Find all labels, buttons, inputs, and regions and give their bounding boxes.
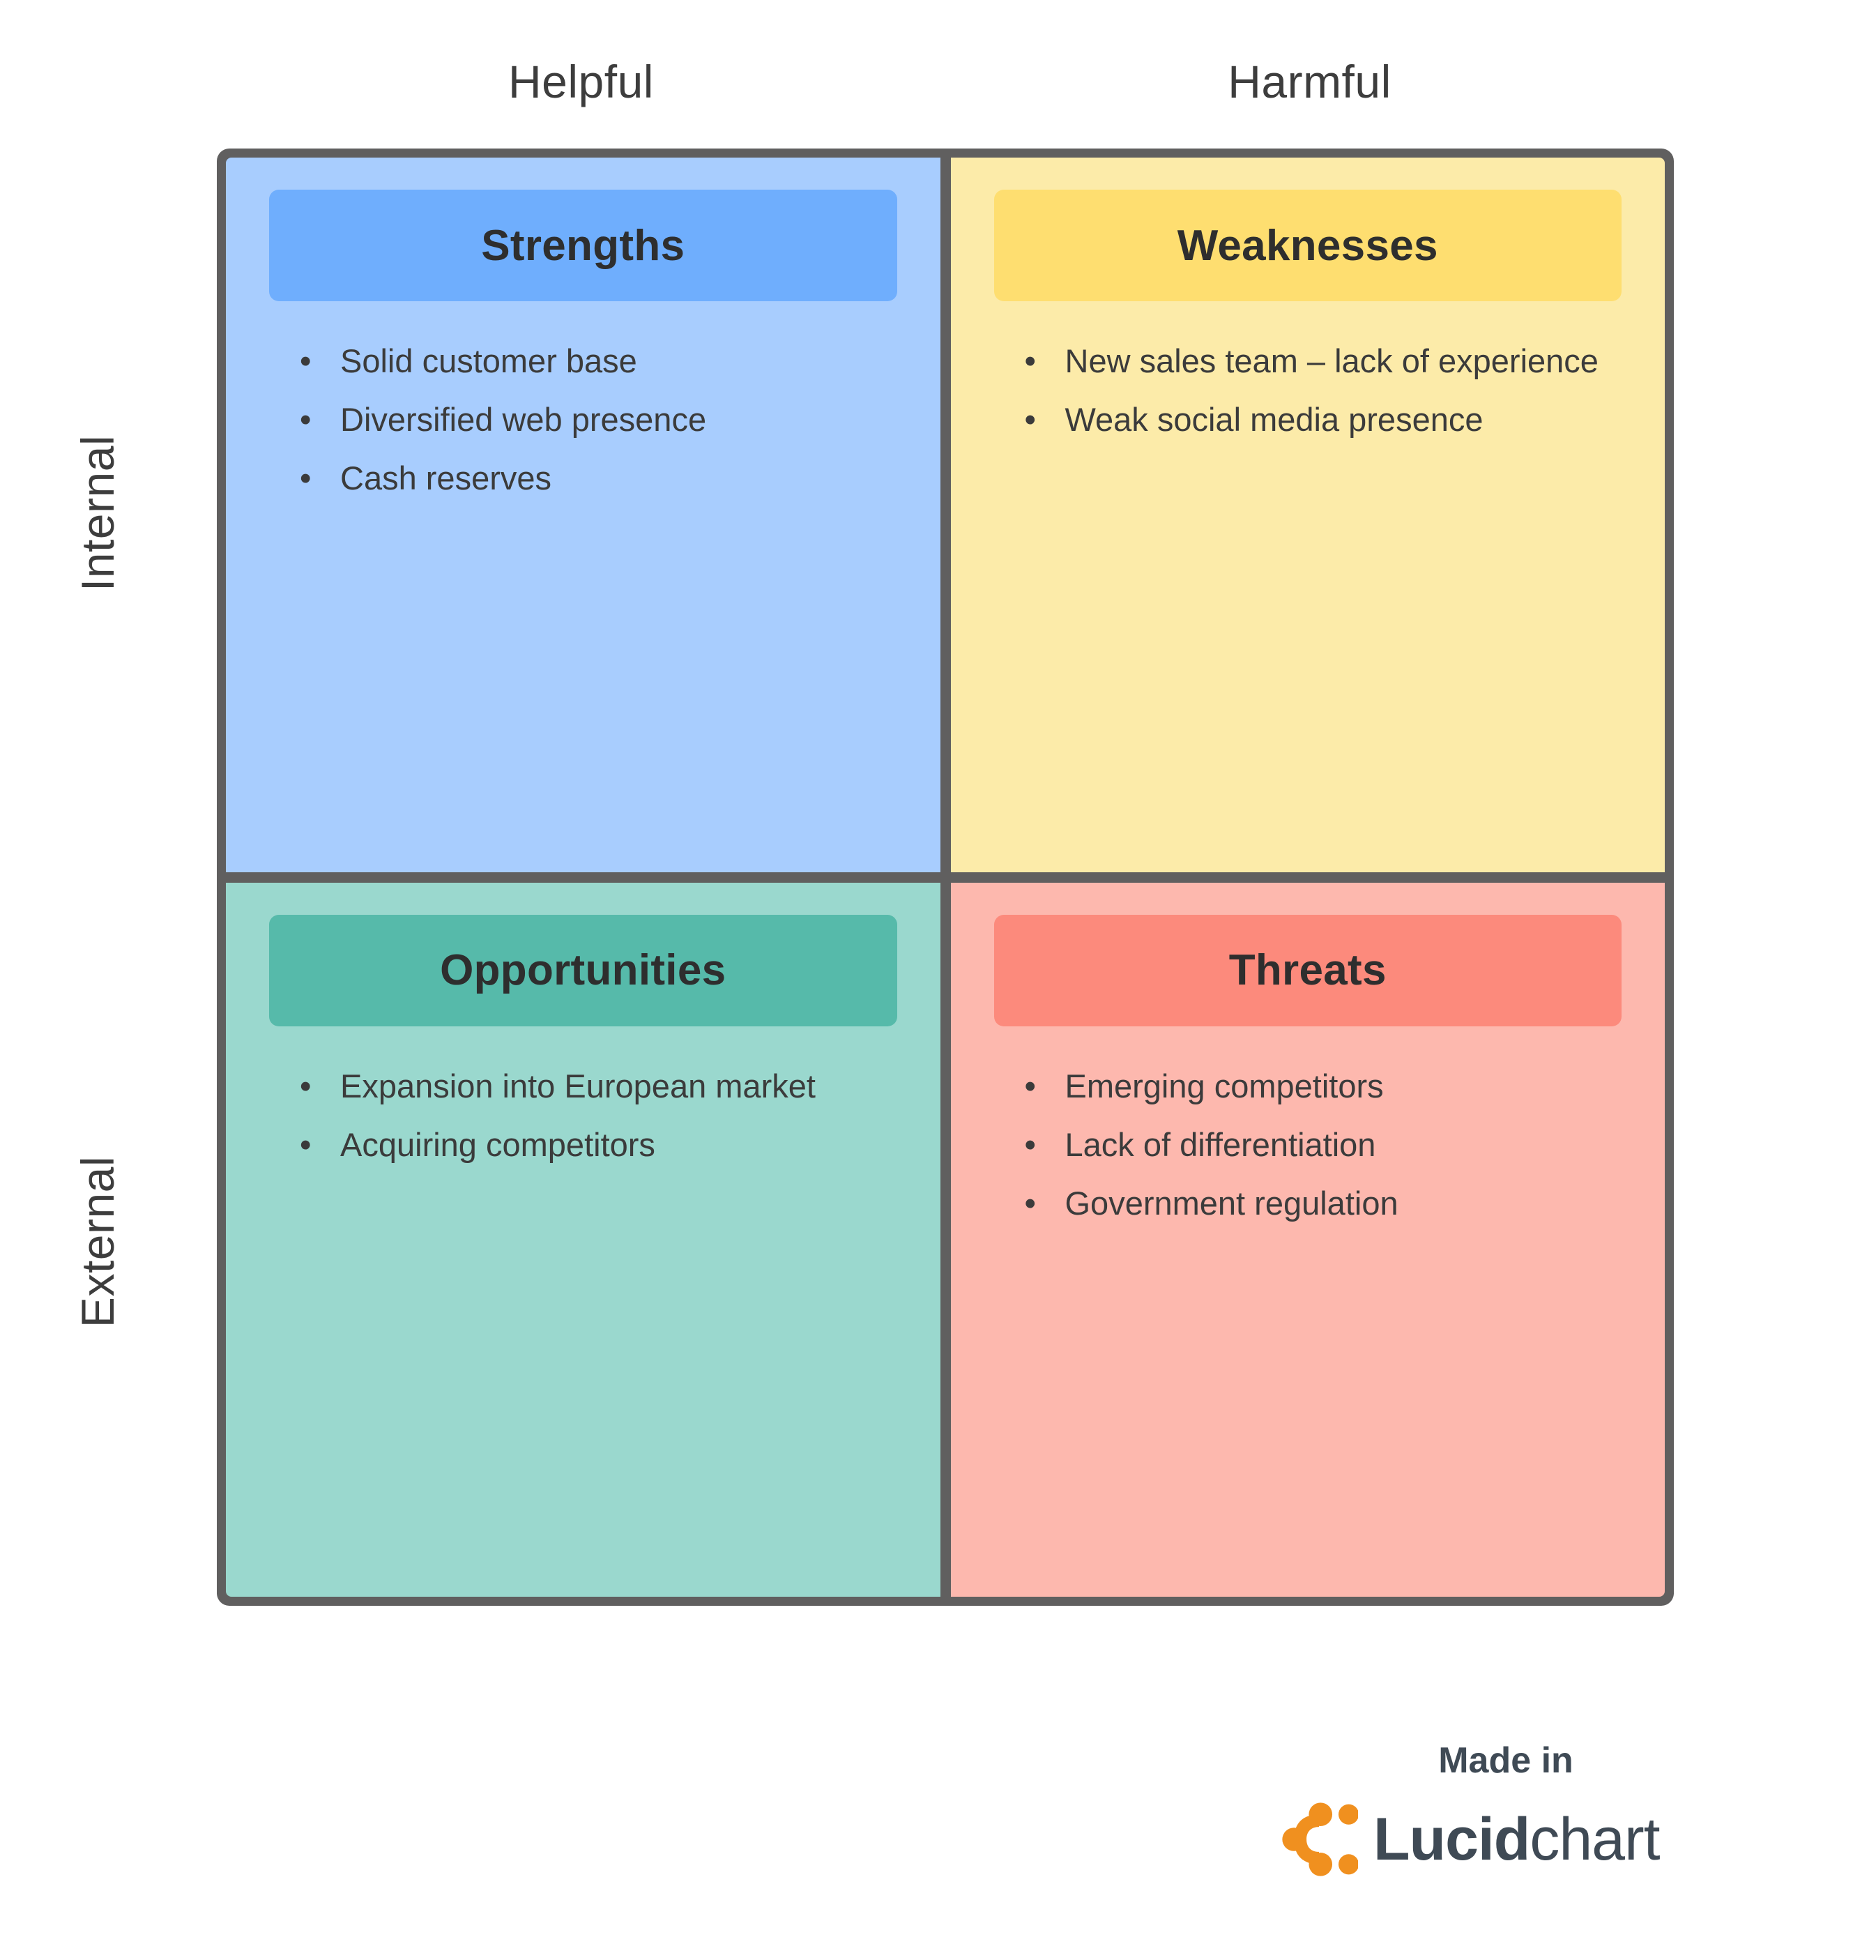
- bullet-icon: •: [1025, 1057, 1036, 1116]
- quadrant-list-opportunities: •Expansion into European market•Acquirin…: [269, 1026, 897, 1174]
- list-item-label: New sales team – lack of experience: [1065, 342, 1599, 379]
- list-item: •Lack of differentiation: [1022, 1116, 1622, 1174]
- bullet-icon: •: [1025, 1174, 1036, 1233]
- row-label-external-text: External: [71, 1155, 124, 1327]
- list-item: •New sales team – lack of experience: [1022, 332, 1622, 390]
- list-item-label: Cash reserves: [340, 459, 551, 496]
- bullet-icon: •: [300, 390, 311, 449]
- quadrant-title-weaknesses: Weaknesses: [994, 190, 1622, 301]
- list-item: •Diversified web presence: [297, 390, 897, 449]
- list-item: •Government regulation: [1022, 1174, 1622, 1233]
- bullet-icon: •: [1025, 332, 1036, 390]
- list-item: •Acquiring competitors: [297, 1116, 897, 1174]
- quadrant-list-strengths: •Solid customer base•Diversified web pre…: [269, 301, 897, 508]
- list-item: •Emerging competitors: [1022, 1057, 1622, 1116]
- wordmark-chart: chart: [1530, 1806, 1659, 1873]
- list-item-label: Expansion into European market: [340, 1068, 816, 1104]
- bullet-icon: •: [1025, 1116, 1036, 1174]
- column-headers: Helpful Harmful: [217, 43, 1674, 120]
- quadrant-title-threats: Threats: [994, 915, 1622, 1026]
- list-item-label: Government regulation: [1065, 1185, 1398, 1222]
- footer-attribution: Made in Lucidchart: [1262, 1736, 1792, 1924]
- wordmark-lucid: Lucid: [1373, 1806, 1530, 1873]
- quadrant-threats[interactable]: Threats •Emerging competitors•Lack of di…: [951, 883, 1665, 1597]
- row-label-internal: Internal: [0, 149, 195, 877]
- lucidchart-mark-icon: [1280, 1800, 1358, 1878]
- list-item: •Expansion into European market: [297, 1057, 897, 1116]
- quadrant-weaknesses[interactable]: Weaknesses •New sales team – lack of exp…: [951, 158, 1665, 872]
- quadrant-list-threats: •Emerging competitors•Lack of differenti…: [994, 1026, 1622, 1233]
- quadrant-strengths[interactable]: Strengths •Solid customer base•Diversifi…: [226, 158, 940, 872]
- bullet-icon: •: [300, 1116, 311, 1174]
- quadrant-opportunities[interactable]: Opportunities •Expansion into European m…: [226, 883, 940, 1597]
- list-item-label: Weak social media presence: [1065, 401, 1484, 438]
- list-item-label: Acquiring competitors: [340, 1126, 655, 1163]
- bullet-icon: •: [300, 1057, 311, 1116]
- swot-matrix: Strengths •Solid customer base•Diversifi…: [217, 149, 1674, 1606]
- list-item: •Weak social media presence: [1022, 390, 1622, 449]
- quadrant-title-strengths: Strengths: [269, 190, 897, 301]
- row-label-internal-text: Internal: [71, 434, 124, 591]
- list-item-label: Diversified web presence: [340, 401, 706, 438]
- lucidchart-wordmark: Lucidchart: [1373, 1805, 1660, 1874]
- column-header-helpful: Helpful: [217, 43, 945, 120]
- bullet-icon: •: [300, 332, 311, 390]
- bullet-icon: •: [300, 449, 311, 508]
- made-in-label: Made in: [1290, 1736, 1722, 1785]
- list-item-label: Solid customer base: [340, 342, 637, 379]
- row-label-external: External: [0, 877, 195, 1606]
- list-item-label: Emerging competitors: [1065, 1068, 1384, 1104]
- list-item: •Cash reserves: [297, 449, 897, 508]
- list-item: •Solid customer base: [297, 332, 897, 390]
- column-header-harmful: Harmful: [945, 43, 1674, 120]
- bullet-icon: •: [1025, 390, 1036, 449]
- quadrant-title-opportunities: Opportunities: [269, 915, 897, 1026]
- lucidchart-logo[interactable]: Lucidchart: [1280, 1800, 1792, 1878]
- quadrant-list-weaknesses: •New sales team – lack of experience•Wea…: [994, 301, 1622, 449]
- list-item-label: Lack of differentiation: [1065, 1126, 1376, 1163]
